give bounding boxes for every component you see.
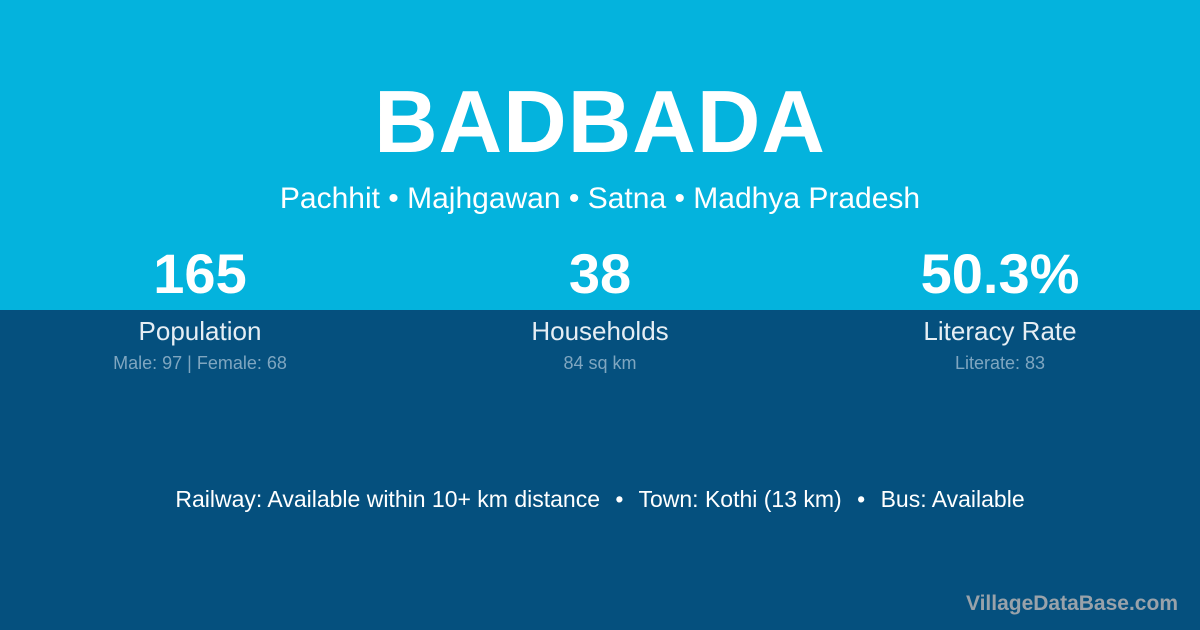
stat-value-literacy-rate: 50.3% — [800, 240, 1200, 310]
stat-value-households: 38 — [400, 240, 800, 310]
facility-separator-2: • — [848, 485, 874, 515]
page-title: BADBADA — [0, 78, 1200, 166]
facility-railway: Railway: Available within 10+ km distanc… — [175, 486, 600, 512]
stats-row: 165 Population Male: 97 | Female: 68 38 … — [0, 240, 1200, 380]
site-watermark: VillageDataBase.com — [966, 591, 1178, 616]
facility-town: Town: Kothi (13 km) — [638, 486, 841, 512]
village-info-card: BADBADA Pachhit • Majhgawan • Satna • Ma… — [0, 0, 1200, 630]
stat-households: 38 Households 84 sq km — [400, 240, 800, 380]
stat-literacy-rate: 50.3% Literacy Rate Literate: 83 — [800, 240, 1200, 380]
stat-label-households: Households — [400, 316, 800, 347]
stat-sub-households: 84 sq km — [400, 353, 800, 375]
stat-value-population: 165 — [0, 240, 400, 310]
stat-label-literacy-rate: Literacy Rate — [800, 316, 1200, 347]
stat-sub-literacy-rate: Literate: 83 — [800, 353, 1200, 375]
facility-bus: Bus: Available — [881, 486, 1025, 512]
breadcrumb: Pachhit • Majhgawan • Satna • Madhya Pra… — [0, 181, 1200, 217]
stat-population: 165 Population Male: 97 | Female: 68 — [0, 240, 400, 380]
facility-separator-1: • — [606, 485, 632, 515]
facilities-line: Railway: Available within 10+ km distanc… — [0, 485, 1200, 515]
stat-sub-population: Male: 97 | Female: 68 — [0, 353, 400, 375]
stat-label-population: Population — [0, 316, 400, 347]
